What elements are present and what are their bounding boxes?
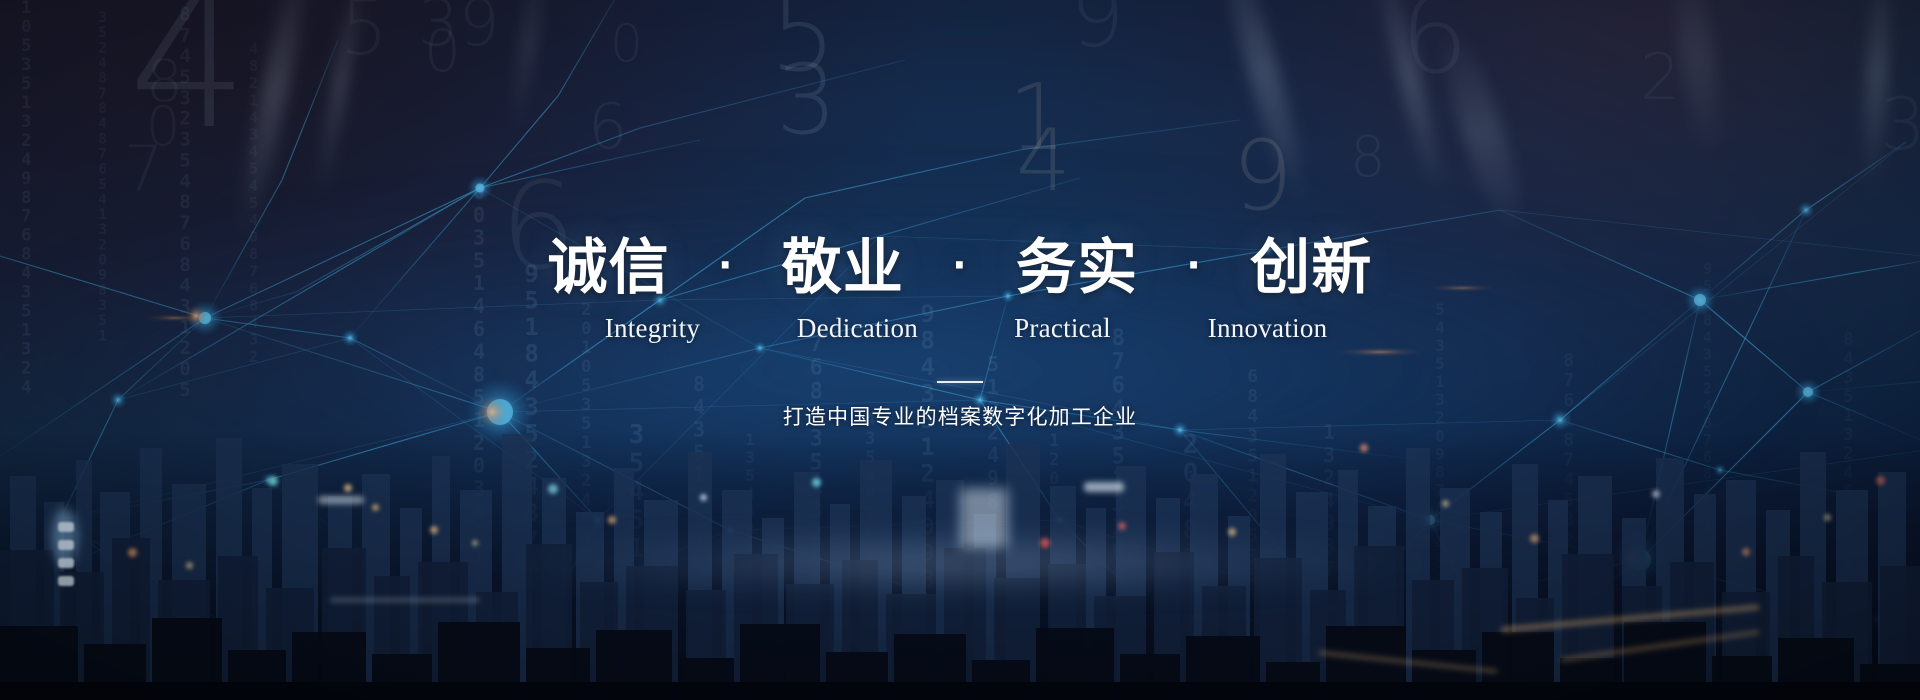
city-light [1652, 490, 1660, 498]
city-light [1876, 476, 1885, 485]
city-lights [0, 430, 1920, 700]
city-light [58, 576, 74, 586]
slogan-english-row: Integrity Dedication Practical Innovatio… [0, 313, 1920, 344]
city-light [1040, 538, 1050, 548]
city-road-lights [330, 598, 480, 602]
slogan-english-integrity: Integrity [553, 313, 751, 344]
city-light [430, 526, 438, 534]
city-light [1824, 514, 1831, 521]
slogan-english-dedication: Dedication [758, 313, 956, 344]
city-light [186, 562, 193, 569]
slogan-separator-dot: · [1186, 246, 1202, 285]
city-road-lights [1500, 605, 1759, 633]
tagline: 打造中国专业的档案数字化加工企业 [0, 401, 1920, 431]
hero-banner: 4 5 39 0 6 9 6 5 3 1 8 0 7 4 9 2 8 3 6 0… [0, 0, 1920, 700]
city-light [58, 540, 74, 550]
city-light [128, 548, 137, 557]
city-light [960, 488, 1008, 548]
city-light [58, 522, 74, 532]
city-light [1228, 528, 1236, 536]
city-light [1118, 522, 1126, 530]
slogan-main: 诚信 · 敬业 · 务实 · 创新 [0, 238, 1920, 299]
horizontal-rule-icon [937, 381, 983, 383]
slogan-separator-dot: · [718, 246, 734, 285]
slogan-separator-dot: · [952, 246, 968, 285]
city-light [608, 516, 616, 524]
city-light [372, 504, 379, 511]
slogan-word-integrity: 诚信 [547, 238, 669, 299]
city-light [548, 484, 558, 494]
city-light [472, 540, 478, 546]
city-light [318, 496, 364, 504]
city-light [1084, 482, 1124, 492]
slogan-word-dedication: 敬业 [782, 238, 904, 299]
divider-container [0, 373, 1920, 387]
city-light [1360, 444, 1368, 452]
slogan-english-innovation: Innovation [1169, 313, 1367, 344]
city-road-lights [1318, 651, 1497, 674]
banner-content: 诚信 · 敬业 · 务实 · 创新 Integrity Dedication P… [0, 0, 1920, 431]
city-road-lights [1561, 630, 1760, 662]
city-light [1742, 548, 1750, 556]
slogan-english-practical: Practical [964, 313, 1162, 344]
city-light [1442, 500, 1449, 507]
city-light [268, 476, 278, 486]
slogan-word-innovation: 创新 [1250, 238, 1372, 299]
cityscape [0, 430, 1920, 700]
slogan-word-practical: 务实 [1016, 238, 1138, 299]
city-light [1530, 534, 1539, 543]
city-light [344, 484, 352, 492]
city-light [58, 558, 74, 568]
city-light [700, 494, 707, 501]
city-light [812, 478, 821, 487]
